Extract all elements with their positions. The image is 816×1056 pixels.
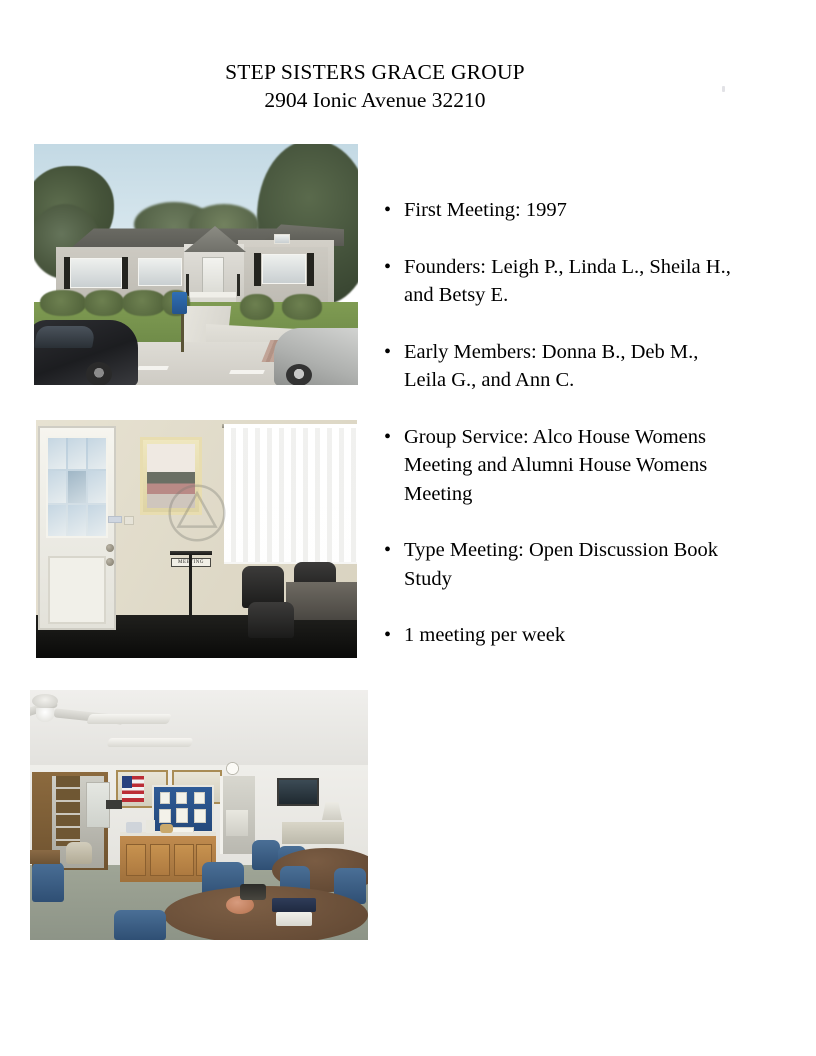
parking-stripe-a [137,366,169,370]
hedge-f [282,294,322,320]
door-pane-3 [88,438,106,469]
bullet-list: • First Meeting: 1997 • Founders: Leigh … [381,196,731,650]
parking-stripe-b [229,370,265,374]
car-dark-left [34,320,138,385]
door-pane-4 [48,471,66,502]
page-subtitle-address: 2904 Ionic Avenue 32210 [0,86,750,114]
sign-stand-pole [189,555,192,617]
bullet-marker: • [384,253,391,282]
round-table-front [164,886,368,940]
photo-house-exterior [34,144,358,385]
list-item: • Type Meeting: Open Discussion Book Stu… [381,536,731,593]
chair-blue-front [114,910,166,940]
board-card-6 [194,809,206,823]
door-pane-5 [68,471,86,502]
list-item: • Early Members: Donna B., Deb M., Leila… [381,338,731,395]
photo-meeting-room [30,690,368,940]
bullet-marker: • [384,423,391,452]
bullet-text: 1 meeting per week [404,621,731,650]
board-card-1 [160,792,170,804]
car-window-left [34,326,96,348]
door-glass-panes [46,436,108,538]
chair-blue-left [32,862,64,902]
papers-on-table [276,912,312,926]
bullet-text: Group Service: Alco House Womens Meeting… [404,423,731,509]
hedge-e [240,294,274,320]
car-wheel-left [86,362,112,385]
list-item: • First Meeting: 1997 [381,196,731,225]
interior-entry-door [38,426,116,630]
wall-clock [226,762,239,775]
door-lower-panel [48,556,106,624]
ceiling-light-fixture-2 [107,738,193,747]
bullet-marker: • [384,536,391,565]
hedge-b [84,290,124,316]
credenza-door-2 [150,844,170,876]
door-pane-9 [88,505,106,536]
ceiling-light-fixture-1 [86,714,172,724]
aa-circle-triangle-watermark-icon [166,482,228,544]
credenza-door-3 [174,844,194,876]
bookshelf [56,776,80,846]
bullet-text: Type Meeting: Open Discussion Book Study [404,536,731,593]
car-silver-right [274,328,358,385]
list-item: • 1 meeting per week [381,621,731,650]
counter-box-item [126,822,142,833]
counter-bottle [146,820,155,833]
scan-artifact-speck [722,86,725,92]
front-door [202,257,224,293]
armchair-adjacent-room [66,842,92,864]
book-on-table [272,898,316,912]
gable-vent-window [274,234,290,244]
bullet-text: First Meeting: 1997 [404,196,731,225]
shutter-right-a [254,253,261,286]
side-console-table [282,822,344,844]
shutter-left-a [64,257,70,289]
door-pane-6 [88,471,106,502]
counter-basket [160,824,173,833]
wall-plaque [106,800,122,809]
car-wheel-right [286,364,312,385]
coffee-carafe-tray [240,884,266,900]
window-left-center [138,258,182,286]
document-heading: STEP SISTERS GRACE GROUP 2904 Ionic Aven… [0,58,750,114]
document-page: STEP SISTERS GRACE GROUP 2904 Ionic Aven… [0,0,816,1056]
board-card-2 [176,792,187,804]
window-curtain [224,428,357,562]
hedge-a [40,290,86,316]
american-flag [122,776,144,802]
small-side-table-left [30,850,60,864]
board-card-5 [176,808,188,823]
ceiling-fan-light [36,708,54,722]
door-pane-1 [48,438,66,469]
meeting-table [286,582,357,620]
wall-mounted-tv [277,778,319,806]
blue-sign-box [172,292,187,314]
list-item: • Group Service: Alco House Womens Meeti… [381,423,731,509]
bullet-marker: • [384,338,391,367]
light-switch-plate [124,516,134,525]
bullet-text: Early Members: Donna B., Deb M., Leila G… [404,338,731,395]
shutter-left-b [122,257,128,289]
wall-notice-card [108,516,122,523]
hedge-c [122,290,166,316]
credenza-door-1 [126,844,146,876]
photo-interior-entry: MEETING [36,420,357,658]
door-knob [106,544,114,552]
window-right-wing [262,254,306,284]
window-left-wide [70,258,122,288]
list-item: • Founders: Leigh P., Linda L., Sheila H… [381,253,731,310]
bullet-text: Founders: Leigh P., Linda L., Sheila H.,… [404,253,731,310]
door-deadbolt [106,558,114,566]
board-card-4 [159,809,171,823]
hallway-counter [226,810,248,836]
ceiling-fan-motor [32,694,58,708]
porch-rail-right [237,274,240,296]
shutter-right-b [307,253,314,286]
page-title: STEP SISTERS GRACE GROUP [0,58,750,86]
room-ceiling [30,690,368,770]
chair-front [248,602,294,638]
door-pane-2 [68,438,86,469]
board-card-3 [194,792,205,804]
bullet-marker: • [384,621,391,650]
bullet-marker: • [384,196,391,225]
door-pane-7 [48,505,66,536]
door-pane-8 [68,505,86,536]
